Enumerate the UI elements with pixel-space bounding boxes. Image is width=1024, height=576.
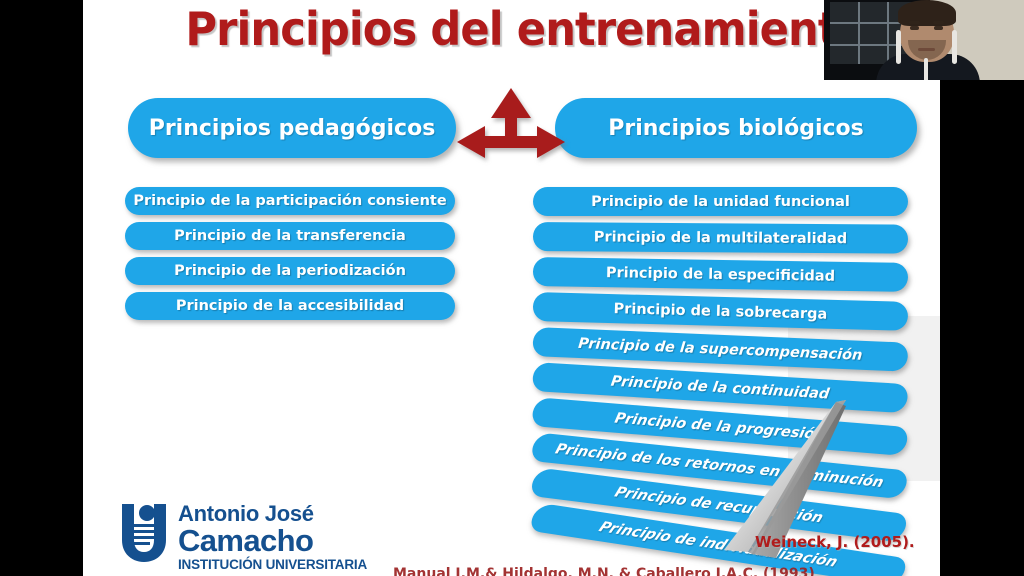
presenter-webcam-feed[interactable] [824, 0, 1024, 80]
list-item: Principio de la accesibilidad [125, 292, 455, 320]
list-item-label: Principio de la periodización [174, 263, 406, 279]
university-u-logo-icon [116, 502, 172, 564]
presenter-eyebrow-right [933, 21, 944, 24]
list-item-label: Principio de la unidad funcional [591, 194, 850, 210]
university-logo-text: Antonio José Camacho INSTITUCIÓN UNIVERS… [178, 502, 367, 572]
list-item: Principio de la sobrecarga [533, 292, 909, 331]
logo-line-2: Camacho [178, 525, 367, 557]
list-item-label: Principio de la progresión [613, 410, 826, 443]
header-pill-pedagogical: Principios pedagógicos [128, 98, 456, 158]
screen: Principios del entrenamient Principios p… [0, 0, 1024, 576]
presenter-eyebrow-left [909, 21, 920, 24]
list-item-label: Principio de la sobrecarga [613, 301, 827, 323]
list-item: Principio de la especificidad [533, 257, 908, 292]
page-title: Principios del entrenamient [109, 2, 915, 56]
list-item-label: Principio de la especificidad [606, 265, 835, 285]
presenter-eye-right [934, 26, 943, 30]
list-item: Principio de la multilateralidad [533, 222, 908, 254]
header-pill-pedagogical-label: Principios pedagógicos [149, 116, 436, 141]
list-item: Principio de la participación consiente [125, 187, 455, 215]
earphone-cable-center [924, 58, 928, 80]
presentation-slide: Principios del entrenamient Principios p… [83, 0, 940, 576]
citation-primary: Weineck, J. (2005). [755, 533, 915, 551]
biological-principles-list: Principio de la unidad funcional Princip… [533, 187, 908, 537]
list-item: Principio de la transferencia [125, 222, 455, 250]
header-pill-biological-label: Principios biológicos [608, 116, 864, 141]
list-item-label: Principio de la continuidad [610, 373, 831, 402]
pedagogical-principles-list: Principio de la participación consiente … [125, 187, 455, 327]
university-logo: Antonio José Camacho INSTITUCIÓN UNIVERS… [116, 500, 396, 576]
presenter-eye-left [910, 26, 919, 30]
citation-secondary: Manual J.M.& Hildalgo, M.N. & Caballero … [393, 566, 815, 576]
list-item-label: Principio de la multilateralidad [594, 229, 847, 247]
list-item-label: Principio de la transferencia [174, 228, 406, 244]
earphone-cable-left [896, 30, 901, 64]
logo-line-3: INSTITUCIÓN UNIVERSITARIA [178, 557, 367, 572]
presenter-avatar [878, 4, 978, 80]
logo-line-1: Antonio José [178, 502, 367, 525]
presenter-hair [898, 0, 956, 26]
list-item: Principio de la periodización [125, 257, 455, 285]
list-item: Principio de la unidad funcional [533, 187, 908, 216]
header-pill-biological: Principios biológicos [555, 98, 917, 158]
earphone-cable-right [952, 30, 957, 64]
presenter-mouth [918, 48, 935, 51]
list-item-label: Principio de la participación consiente [133, 193, 446, 209]
list-item-label: Principio de la accesibilidad [176, 298, 404, 314]
tri-directional-arrow-icon [455, 84, 567, 166]
list-item-label: Principio de la supercompensación [578, 335, 864, 363]
